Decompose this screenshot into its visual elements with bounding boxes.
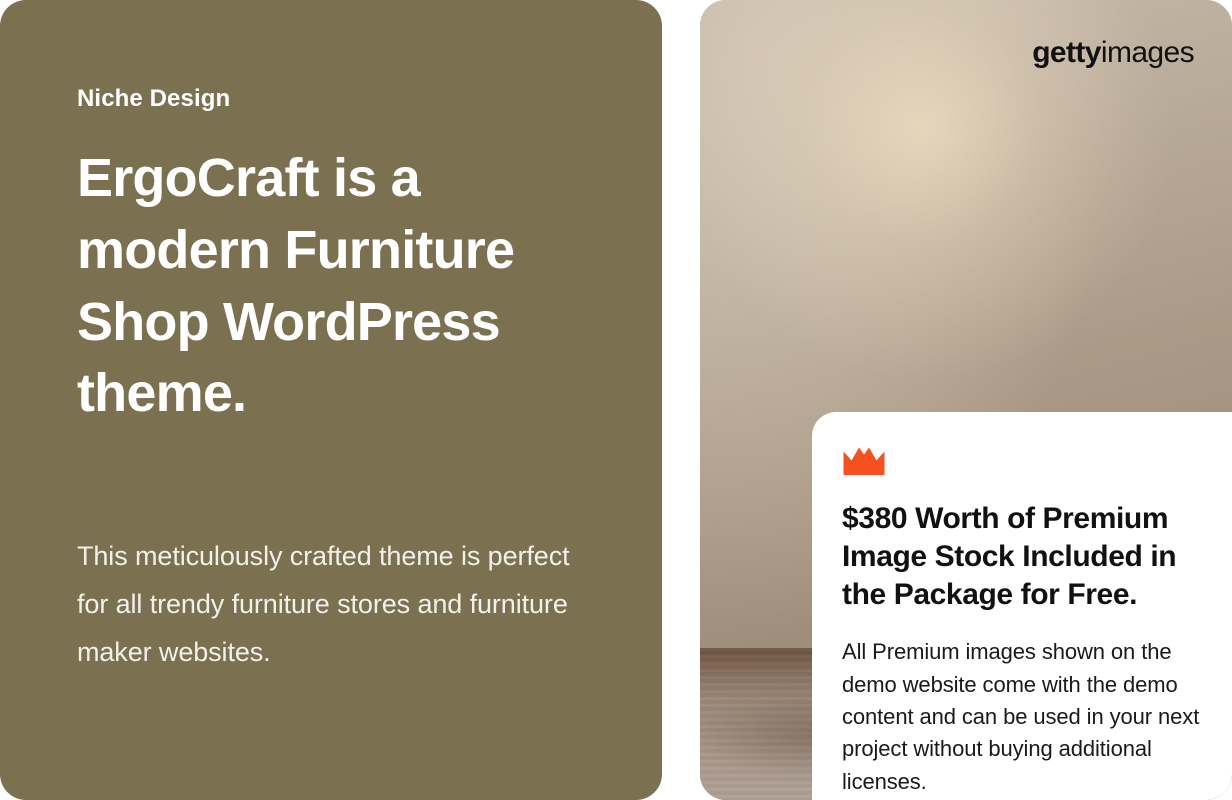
product-photo-panel: gettyimages $380 Worth of Premium Image … <box>700 0 1232 800</box>
getty-images-watermark: gettyimages <box>1032 36 1194 70</box>
watermark-light-text: images <box>1101 36 1194 69</box>
eyebrow-label: Niche Design <box>77 85 230 114</box>
promo-card-title: $380 Worth of Premium Image Stock Includ… <box>842 500 1202 614</box>
page-title: ErgoCraft is a modern Furniture Shop Wor… <box>77 143 597 430</box>
watermark-bold-text: getty <box>1032 36 1101 69</box>
premium-stock-card: $380 Worth of Premium Image Stock Includ… <box>812 412 1232 800</box>
promo-banner: Niche Design ErgoCraft is a modern Furni… <box>0 0 1232 800</box>
crown-icon <box>842 446 886 476</box>
left-content-panel: Niche Design ErgoCraft is a modern Furni… <box>0 0 662 800</box>
description-text: This meticulously crafted theme is perfe… <box>77 532 597 676</box>
promo-card-body: All Premium images shown on the demo web… <box>842 636 1202 798</box>
